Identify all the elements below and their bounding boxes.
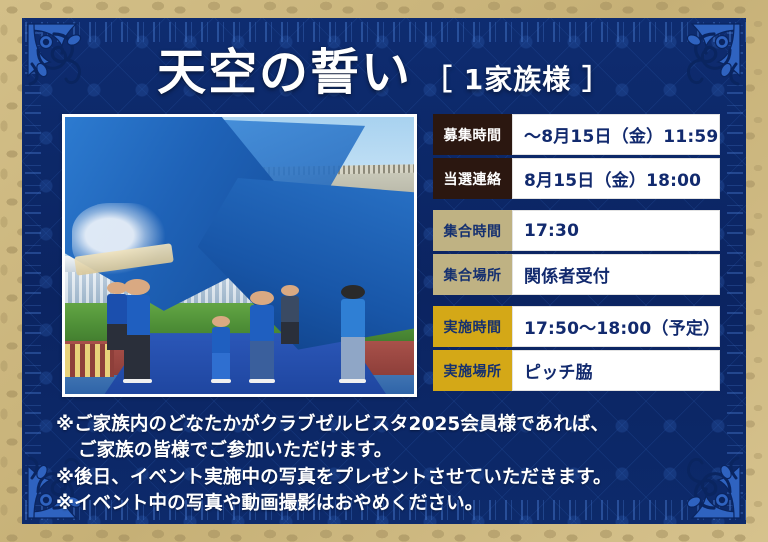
table-row: 募集時間 ～8月15日（金）11:59 bbox=[433, 114, 720, 155]
event-photo-frame bbox=[62, 114, 417, 397]
title-main-text: 天空の誓い bbox=[157, 48, 412, 97]
title-sub-text: ［ 1家族様 ］ bbox=[424, 66, 611, 94]
photo-person bbox=[281, 285, 299, 344]
photo-person bbox=[212, 316, 230, 383]
table-row: 集合時間 17:30 bbox=[433, 210, 720, 251]
row-value: 8月15日（金）18:00 bbox=[512, 158, 720, 199]
inner-panel: 天空の誓い ［ 1家族様 ］ bbox=[22, 18, 746, 524]
table-row: 実施時間 17:50～18:00（予定） bbox=[433, 306, 720, 347]
table-group-execution: 実施時間 17:50～18:00（予定） 実施場所 ピッチ脇 bbox=[433, 306, 720, 391]
note-line-4: ※イベント中の写真や動画撮影はおやめください。 bbox=[56, 491, 712, 517]
table-row: 実施場所 ピッチ脇 bbox=[433, 350, 720, 391]
table-row: 当選連絡 8月15日（金）18:00 bbox=[433, 158, 720, 199]
row-value: 17:50～18:00（予定） bbox=[512, 306, 720, 347]
row-value: ～8月15日（金）11:59 bbox=[512, 114, 720, 155]
photo-person bbox=[250, 291, 274, 383]
poster-title: 天空の誓い ［ 1家族様 ］ bbox=[22, 48, 746, 97]
note-line-3: ※後日、イベント実施中の写真をプレゼントさせていただきます。 bbox=[56, 465, 712, 491]
poster-root: 天空の誓い ［ 1家族様 ］ bbox=[0, 0, 768, 542]
notes-block: ※ご家族内のどなたかがクラブゼルビスタ2025会員様であれば、 ご家族の皆様でご… bbox=[56, 412, 712, 517]
note-line-1: ※ご家族内のどなたかがクラブゼルビスタ2025会員様であれば、 bbox=[56, 412, 712, 438]
photo-person bbox=[341, 285, 365, 383]
row-value: ピッチ脇 bbox=[512, 350, 720, 391]
table-row: 集合場所 関係者受付 bbox=[433, 254, 720, 295]
photo-person bbox=[107, 282, 127, 350]
event-photo bbox=[65, 117, 414, 394]
table-group-application: 募集時間 ～8月15日（金）11:59 当選連絡 8月15日（金）18:00 bbox=[433, 114, 720, 199]
row-label: 実施場所 bbox=[433, 350, 512, 391]
photo-person bbox=[124, 279, 150, 383]
row-value: 17:30 bbox=[512, 210, 720, 251]
row-label: 集合場所 bbox=[433, 254, 512, 295]
row-value: 関係者受付 bbox=[512, 254, 720, 295]
note-line-2: ご家族の皆様でご参加いただけます。 bbox=[56, 438, 712, 464]
event-info-table: 募集時間 ～8月15日（金）11:59 当選連絡 8月15日（金）18:00 集… bbox=[433, 114, 720, 391]
table-group-meeting: 集合時間 17:30 集合場所 関係者受付 bbox=[433, 210, 720, 295]
row-label: 当選連絡 bbox=[433, 158, 512, 199]
row-label: 実施時間 bbox=[433, 306, 512, 347]
top-ornament-strip bbox=[22, 22, 746, 42]
row-label: 募集時間 bbox=[433, 114, 512, 155]
row-label: 集合時間 bbox=[433, 210, 512, 251]
